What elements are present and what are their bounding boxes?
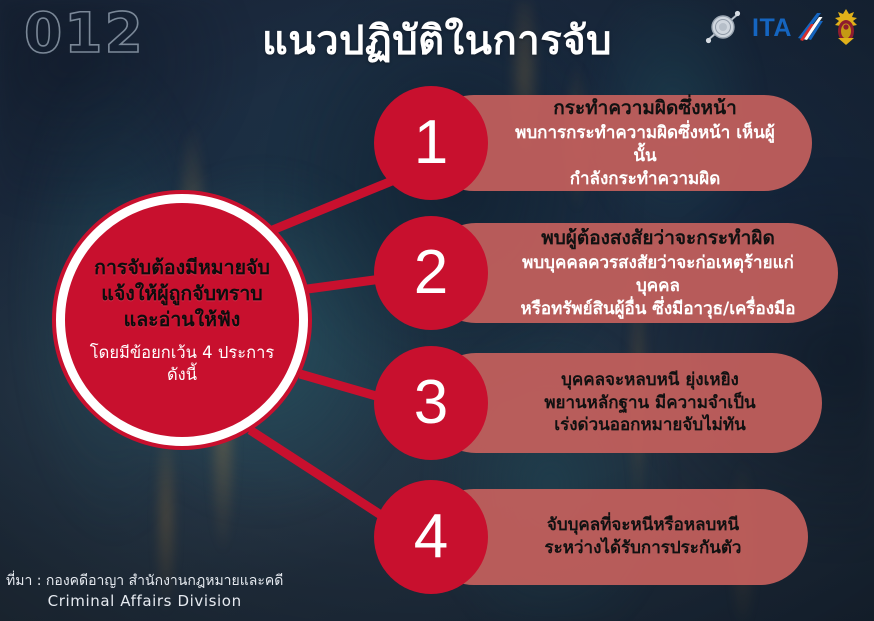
footer-source-text: ที่มา : กองคดีอาญา สำนักงานกฎหมายและคดี [6,571,283,591]
footer: ที่มา : กองคดีอาญา สำนักงานกฎหมายและคดี … [6,571,283,613]
garuda-emblem-logo [832,7,860,47]
item-number-badge: 4 [374,480,488,594]
list-item[interactable]: 1 กระทำความผิดซึ่งหน้า พบการกระทำความผิด… [374,86,812,200]
hub-main-text: การจับต้องมีหมายจับ แจ้งให้ผู้ถูกจับทราบ… [94,255,270,333]
footer-english-text: Criminal Affairs Division [6,591,283,613]
item-number-badge: 3 [374,346,488,460]
item-number-badge: 1 [374,86,488,200]
item-body: บุคคลจะหลบหนี ยุ่งเหยิง พยานหลักฐาน มีคว… [544,369,755,437]
infographic-canvas: 012 แนวปฏิบัติในการจับ ITA [0,0,874,621]
list-item[interactable]: 4 จับบุคลที่จะหนีหรือหลบหนี ระหว่างได้รั… [374,480,808,594]
central-hub-circle: การจับต้องมีหมายจับ แจ้งให้ผู้ถูกจับทราบ… [56,194,308,446]
logo-row: ITA [702,7,860,47]
item-body: จับบุคลที่จะหนีหรือหลบหนี ระหว่างได้รับก… [545,514,742,560]
item-number-badge: 2 [374,216,488,330]
svg-text:ITA: ITA [752,14,792,42]
list-item[interactable]: 2 พบผู้ต้องสงสัยว่าจะกระทำผิด พบบุคคลควร… [374,216,838,330]
item-body: พบบุคคลควรสงสัยว่าจะก่อเหตุร้ายแก่บุคคล … [504,252,812,320]
item-heading: พบผู้ต้องสงสัยว่าจะกระทำผิด [541,226,775,251]
ita-logo: ITA [751,8,825,46]
item-heading: กระทำความผิดซึ่งหน้า [553,96,737,121]
item-body: พบการกระทำความผิดซึ่งหน้า เห็นผู้นั้น กำ… [504,122,786,190]
hub-sub-text: โดยมีข้อยกเว้น 4 ประการ ดังนี้ [90,342,274,385]
list-item[interactable]: 3 บุคคลจะหลบหนี ยุ่งเหยิง พยานหลักฐาน มี… [374,346,822,460]
police-emblem-logo [702,7,744,47]
